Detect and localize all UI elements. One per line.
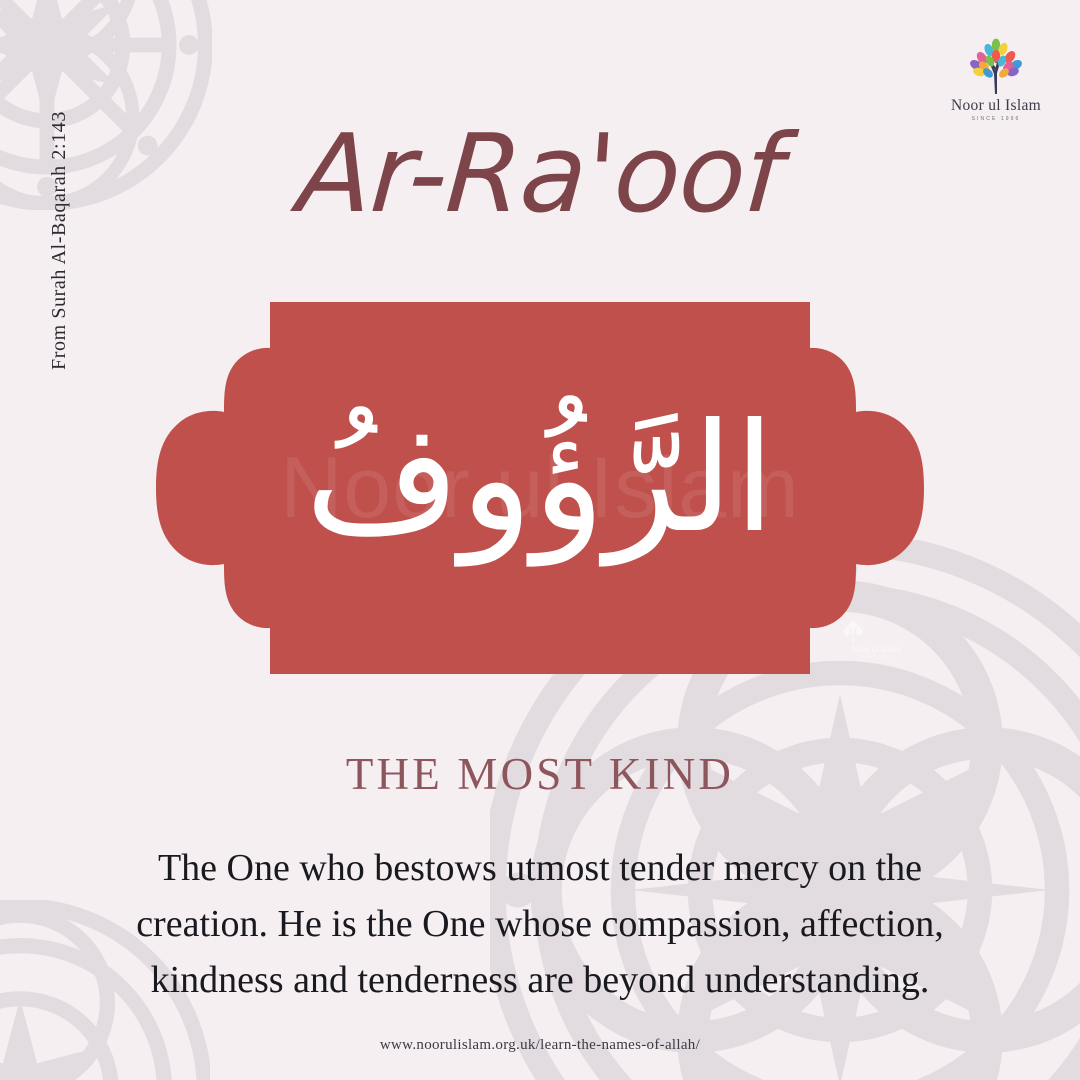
arabic-calligraphy: الرَّؤُوفُ: [128, 302, 952, 674]
brand-logo: Noor ul Islam SINCE 1996: [940, 34, 1052, 122]
name-description: The One who bestows utmost tender mercy …: [96, 840, 984, 1009]
panel-logo-name: Noor ul Islam: [840, 644, 912, 654]
name-meaning: THE MOST KIND: [0, 748, 1080, 800]
panel-corner-logo: Noor ul Islam SINCE 1996: [840, 619, 912, 658]
brand-name: Noor ul Islam: [940, 97, 1052, 115]
calligraphy-panel: Noor ul Islam الرَّؤُوفُ: [128, 302, 952, 674]
panel-logo-since: SINCE 1996: [840, 654, 912, 658]
footer-url[interactable]: www.noorulislam.org.uk/learn-the-names-o…: [0, 1037, 1080, 1054]
page-title: Ar-Ra'oof: [0, 118, 1080, 231]
tree-logo-icon: [962, 34, 1030, 96]
panel-tree-logo-icon: [840, 619, 866, 643]
surah-reference: From Surah Al-Baqarah 2:143: [48, 30, 71, 370]
poster-canvas: Noor ul Islam SINCE 1996 Ar-Ra'oof From …: [0, 0, 1080, 1080]
